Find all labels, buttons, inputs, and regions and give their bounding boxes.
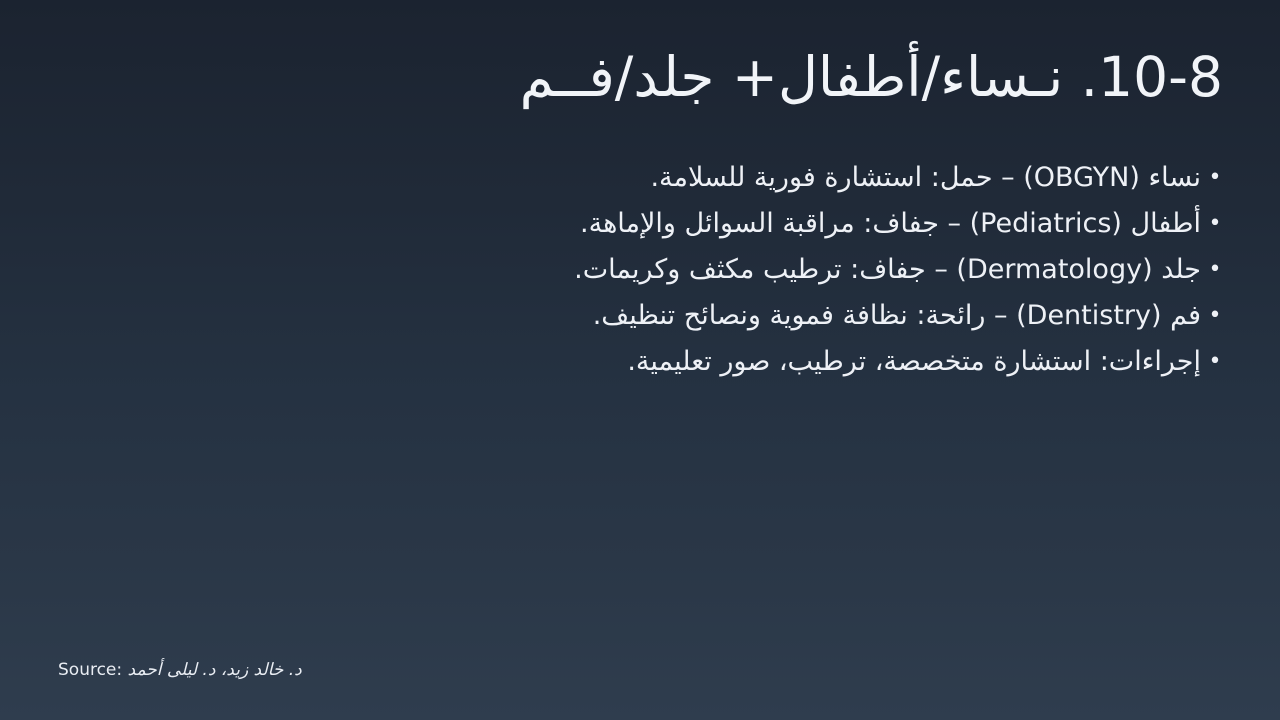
list-item: • إجراءات: استشارة متخصصة، ترطيب، صور تع… [57,339,1227,385]
source-attribution: Source: د. خالد زيد، د. ليلى أحمد [58,658,302,682]
list-item-label: أطفال (Pediatrics) – جفاف: مراقبة السوائ… [580,208,1201,239]
page-title: 10-8. نـساء/أطفال+ جلد/فــم [57,46,1223,109]
source-label: Source: [58,660,122,680]
list-item-label: نساء (OBGYN) – حمل: استشارة فورية للسلام… [650,162,1201,193]
bullet-point-icon: • [1205,293,1225,339]
list-item-label: إجراءات: استشارة متخصصة، ترطيب، صور تعلي… [627,346,1201,377]
bullet-point-icon: • [1205,339,1225,385]
bullet-point-icon: • [1205,201,1225,247]
bullet-list: • نساء (OBGYN) – حمل: استشارة فورية للسل… [57,155,1227,385]
list-item: • أطفال (Pediatrics) – جفاف: مراقبة السو… [57,201,1227,247]
list-item: • نساء (OBGYN) – حمل: استشارة فورية للسل… [57,155,1227,201]
list-item: • فم (Dentistry) – رائحة: نظافة فموية ون… [57,293,1227,339]
list-item-label: فم (Dentistry) – رائحة: نظافة فموية ونصا… [593,300,1201,331]
list-item: • جلد (Dermatology) – جفاف: ترطيب مكثف و… [57,247,1227,293]
bullet-point-icon: • [1205,155,1225,201]
presentation-slide: 10-8. نـساء/أطفال+ جلد/فــم • نساء (OBGY… [0,0,1280,720]
list-item-label: جلد (Dermatology) – جفاف: ترطيب مكثف وكر… [574,254,1201,285]
source-value: د. خالد زيد، د. ليلى أحمد [128,660,302,680]
bullet-point-icon: • [1205,247,1225,293]
